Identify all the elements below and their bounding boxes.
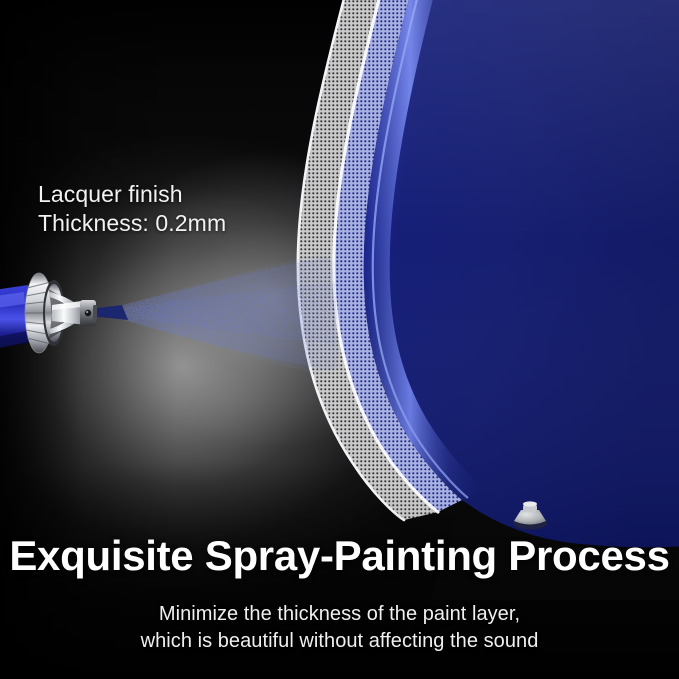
subheadline: Minimize the thickness of the paint laye…	[0, 601, 679, 655]
callout-line-2: Thickness: 0.2mm	[38, 209, 226, 238]
subheadline-line-2: which is beautiful without affecting the…	[0, 628, 679, 655]
subheadline-line-1: Minimize the thickness of the paint laye…	[0, 601, 679, 628]
product-marketing-image: Lacquer finish Thickness: 0.2mm Exquisit…	[0, 0, 679, 679]
bottom-copy-block: Exquisite Spray-Painting Process Minimiz…	[0, 534, 679, 655]
spray-gun	[0, 255, 134, 370]
lacquer-callout: Lacquer finish Thickness: 0.2mm	[38, 180, 226, 238]
headline: Exquisite Spray-Painting Process	[0, 534, 679, 579]
callout-line-1: Lacquer finish	[38, 180, 226, 209]
